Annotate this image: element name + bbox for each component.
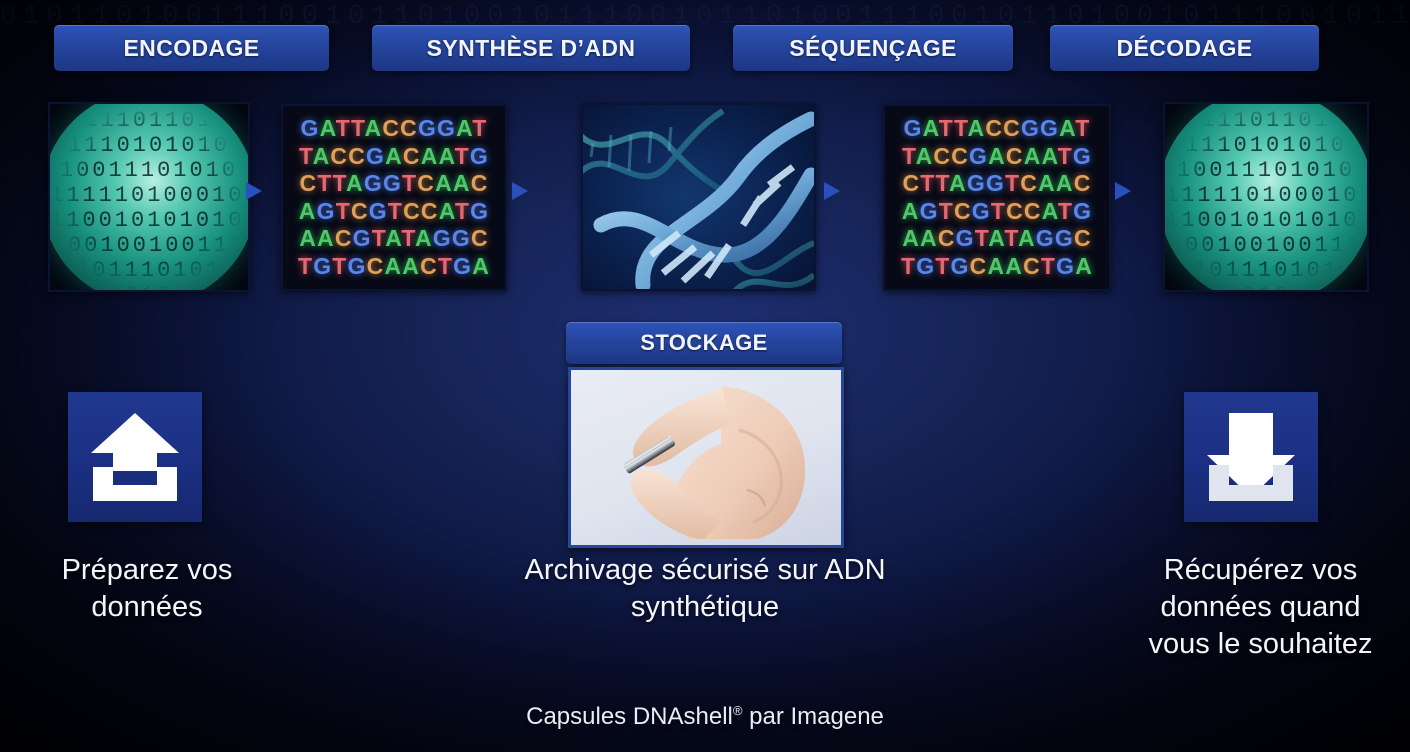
dna-base-C: C — [403, 143, 421, 169]
dna-base-G: G — [470, 143, 489, 169]
binary-sphere-image-right: 1111011010 111101010101 10011101010 1111… — [1163, 102, 1369, 292]
dna-base-A: A — [916, 143, 934, 169]
dna-base-A: A — [968, 115, 986, 141]
helix-illustration — [583, 105, 814, 289]
flow-arrow-2 — [512, 182, 574, 200]
dna-base-G: G — [317, 198, 336, 224]
step-label-decodage[interactable]: DÉCODAGE — [1050, 25, 1319, 71]
dna-base-T: T — [920, 170, 935, 196]
dna-base-A: A — [920, 225, 938, 251]
dna-base-G: G — [437, 115, 456, 141]
dna-helix-image — [581, 103, 816, 291]
dna-base-A: A — [988, 225, 1004, 251]
dna-sequence-row: CTTAGGTCAAC — [902, 170, 1091, 198]
dna-base-C: C — [951, 143, 969, 169]
dna-base-C: C — [1006, 143, 1024, 169]
flow-arrow-4 — [1115, 182, 1159, 200]
dna-base-A: A — [453, 170, 471, 196]
dna-base-C: C — [471, 170, 489, 196]
dna-base-A: A — [923, 115, 939, 141]
hand-holding-capsule-illustration — [571, 370, 835, 539]
dna-base-A: A — [1042, 143, 1058, 169]
dna-base-T: T — [954, 115, 968, 141]
dna-sequence-rows: GATTACCGGATTACCGACAATGCTTAGGTCAACAGTCGTC… — [885, 106, 1109, 289]
dna-base-A: A — [402, 253, 420, 279]
dna-base-C: C — [1074, 170, 1092, 196]
dna-sequence-row: TACCGACAATG — [299, 143, 489, 171]
dna-base-G: G — [418, 115, 437, 141]
dna-base-C: C — [970, 253, 988, 279]
dna-base-G: G — [916, 253, 935, 279]
footer-note: Capsules DNAshell® par Imagene — [0, 703, 1410, 731]
dna-base-C: C — [417, 170, 435, 196]
dna-base-C: C — [348, 143, 366, 169]
dna-base-T: T — [402, 170, 417, 196]
dna-base-T: T — [936, 170, 950, 196]
dna-base-A: A — [421, 143, 439, 169]
upload-icon[interactable] — [68, 392, 202, 522]
dna-base-A: A — [385, 143, 403, 169]
dna-base-T: T — [939, 115, 954, 141]
dna-base-C: C — [954, 198, 972, 224]
dna-base-T: T — [455, 198, 470, 224]
dna-base-G: G — [369, 198, 388, 224]
dna-base-C: C — [1006, 198, 1024, 224]
dna-base-G: G — [1036, 225, 1055, 251]
dna-base-T: T — [1058, 143, 1073, 169]
dna-base-G: G — [904, 115, 923, 141]
dna-base-T: T — [991, 198, 1006, 224]
dna-base-A: A — [365, 115, 383, 141]
dna-base-C: C — [471, 225, 489, 251]
dna-base-T: T — [336, 115, 351, 141]
dna-base-G: G — [956, 225, 975, 251]
dna-base-T: T — [299, 143, 313, 169]
dna-base-G: G — [951, 253, 970, 279]
dna-sequence-row: TACCGACAATG — [902, 143, 1092, 171]
dna-base-G: G — [986, 170, 1005, 196]
dna-base-A: A — [299, 198, 317, 224]
dna-base-G: G — [972, 198, 991, 224]
dna-base-G: G — [920, 198, 939, 224]
dna-base-C: C — [351, 198, 369, 224]
dna-base-A: A — [902, 225, 920, 251]
dna-base-T: T — [332, 253, 347, 279]
dna-base-T: T — [935, 253, 950, 279]
dna-base-G: G — [1073, 198, 1092, 224]
dna-base-T: T — [388, 198, 403, 224]
caption-prepare-data: Préparez vos données — [22, 552, 272, 626]
dna-base-C: C — [1003, 115, 1021, 141]
caption-secure-archive: Archivage sécurisé sur ADN synthétique — [520, 552, 890, 626]
dna-base-A: A — [346, 170, 364, 196]
binary-sphere-image-left: 1111011010 111101010101 10011101010 1111… — [48, 102, 250, 292]
footer-text-after: par Imagene — [742, 703, 883, 730]
dna-sequence-row: AGTCGTCCATG — [299, 198, 489, 226]
dna-base-G: G — [967, 170, 986, 196]
dna-base-G: G — [383, 170, 402, 196]
dna-base-A: A — [439, 143, 455, 169]
dna-base-T: T — [438, 253, 453, 279]
download-icon[interactable] — [1184, 392, 1318, 522]
dna-base-G: G — [313, 253, 332, 279]
dna-base-G: G — [453, 253, 472, 279]
dna-base-C: C — [421, 198, 439, 224]
dna-base-C: C — [933, 143, 951, 169]
sphere-binary-digits: 1111011010 111101010101 10011101010 1111… — [1165, 104, 1367, 290]
dna-base-T: T — [975, 225, 989, 251]
dna-base-T: T — [939, 198, 954, 224]
dna-base-C: C — [1024, 198, 1042, 224]
dna-base-A: A — [317, 225, 335, 251]
dna-base-T: T — [1058, 198, 1073, 224]
dna-base-A: A — [949, 170, 967, 196]
dna-base-A: A — [988, 143, 1006, 169]
dna-base-T: T — [336, 198, 351, 224]
dna-base-A: A — [1005, 253, 1023, 279]
dna-base-G: G — [364, 170, 383, 196]
dna-base-C: C — [985, 115, 1003, 141]
dna-base-T: T — [401, 225, 415, 251]
dna-base-T: T — [1004, 225, 1018, 251]
dna-base-A: A — [439, 198, 455, 224]
dna-base-C: C — [902, 170, 920, 196]
dna-base-G: G — [1055, 225, 1074, 251]
step-label-sequencage[interactable]: SÉQUENÇAGE — [733, 25, 1013, 71]
dna-sequence-row: AACGTATAGGC — [902, 225, 1092, 253]
dna-base-T: T — [372, 225, 386, 251]
dna-sequence-rows: GATTACCGGATTACCGACAATGCTTAGGTCAACAGTCGTC… — [283, 106, 505, 289]
dna-base-T: T — [351, 115, 365, 141]
footer-text-before: Capsules DNAshell — [526, 703, 733, 730]
dna-base-A: A — [299, 225, 317, 251]
dna-base-G: G — [353, 225, 372, 251]
dna-base-G: G — [433, 225, 452, 251]
dna-base-C: C — [1023, 253, 1041, 279]
dna-base-A: A — [902, 198, 920, 224]
sphere-binary-digits: 1111011010 111101010101 10011101010 1111… — [50, 104, 248, 290]
dna-sequence-row: AGTCGTCCATG — [902, 198, 1092, 226]
dna-base-C: C — [330, 143, 348, 169]
step-label-synthese[interactable]: SYNTHÈSE D’ADN — [372, 25, 690, 71]
dna-base-G: G — [470, 198, 489, 224]
dna-base-A: A — [1059, 115, 1075, 141]
dna-base-C: C — [1074, 225, 1092, 251]
dna-base-G: G — [1073, 143, 1092, 169]
dna-base-T: T — [333, 170, 347, 196]
dna-sequence-panel-right: GATTACCGGATTACCGACAATGCTTAGGTCAACAGTCGTC… — [883, 104, 1111, 291]
dna-base-A: A — [1024, 143, 1042, 169]
flow-arrow-3 — [824, 182, 877, 200]
dna-base-G: G — [348, 253, 367, 279]
dna-base-C: C — [367, 253, 385, 279]
dna-base-A: A — [1075, 253, 1093, 279]
dna-base-A: A — [320, 115, 336, 141]
dna-base-T: T — [1041, 253, 1056, 279]
dna-base-C: C — [400, 115, 418, 141]
dna-base-A: A — [987, 253, 1005, 279]
step-label-encodage[interactable]: ENCODAGE — [54, 25, 329, 71]
dna-sequence-row: AACGTATAGGC — [299, 225, 489, 253]
dna-base-A: A — [1038, 170, 1056, 196]
dna-base-C: C — [938, 225, 956, 251]
dna-base-A: A — [456, 115, 472, 141]
dna-sequence-panel-left: GATTACCGGATTACCGACAATGCTTAGGTCAACAGTCGTC… — [281, 104, 507, 291]
dna-base-T: T — [317, 170, 332, 196]
dna-base-C: C — [420, 253, 438, 279]
dna-base-A: A — [1042, 198, 1058, 224]
dna-base-T: T — [455, 143, 470, 169]
dna-base-A: A — [1056, 170, 1074, 196]
storage-capsule-photo — [568, 367, 844, 548]
dna-base-T: T — [1005, 170, 1020, 196]
dna-base-A: A — [1018, 225, 1036, 251]
dna-sequence-row: TGTGCAACTGA — [901, 253, 1093, 281]
dna-base-C: C — [382, 115, 400, 141]
dna-base-A: A — [385, 225, 401, 251]
dna-base-A: A — [435, 170, 453, 196]
dna-base-A: A — [313, 143, 331, 169]
dna-base-A: A — [472, 253, 490, 279]
dna-base-G: G — [969, 143, 988, 169]
dna-base-G: G — [1021, 115, 1040, 141]
dna-sequence-row: CTTAGGTCAAC — [299, 170, 488, 198]
dna-base-C: C — [335, 225, 353, 251]
dna-base-C: C — [299, 170, 317, 196]
dna-base-T: T — [298, 253, 313, 279]
dna-base-T: T — [1075, 115, 1090, 141]
dna-base-G: G — [1040, 115, 1059, 141]
dna-base-G: G — [366, 143, 385, 169]
dna-base-A: A — [415, 225, 433, 251]
flow-arrow-1 — [246, 182, 281, 200]
dna-sequence-row: GATTACCGGAT — [301, 115, 488, 143]
caption-retrieve-data: Récupérez vos données quand vous le souh… — [1128, 552, 1393, 663]
dna-base-T: T — [472, 115, 487, 141]
dna-base-T: T — [901, 253, 916, 279]
dna-base-G: G — [301, 115, 320, 141]
dna-base-C: C — [1020, 170, 1038, 196]
dna-base-T: T — [902, 143, 916, 169]
dna-base-G: G — [1056, 253, 1075, 279]
dna-sequence-row: TGTGCAACTGA — [298, 253, 490, 281]
dna-sequence-row: GATTACCGGAT — [904, 115, 1091, 143]
dna-base-G: G — [452, 225, 471, 251]
dna-base-A: A — [384, 253, 402, 279]
dna-base-C: C — [403, 198, 421, 224]
storage-label[interactable]: STOCKAGE — [566, 322, 842, 364]
